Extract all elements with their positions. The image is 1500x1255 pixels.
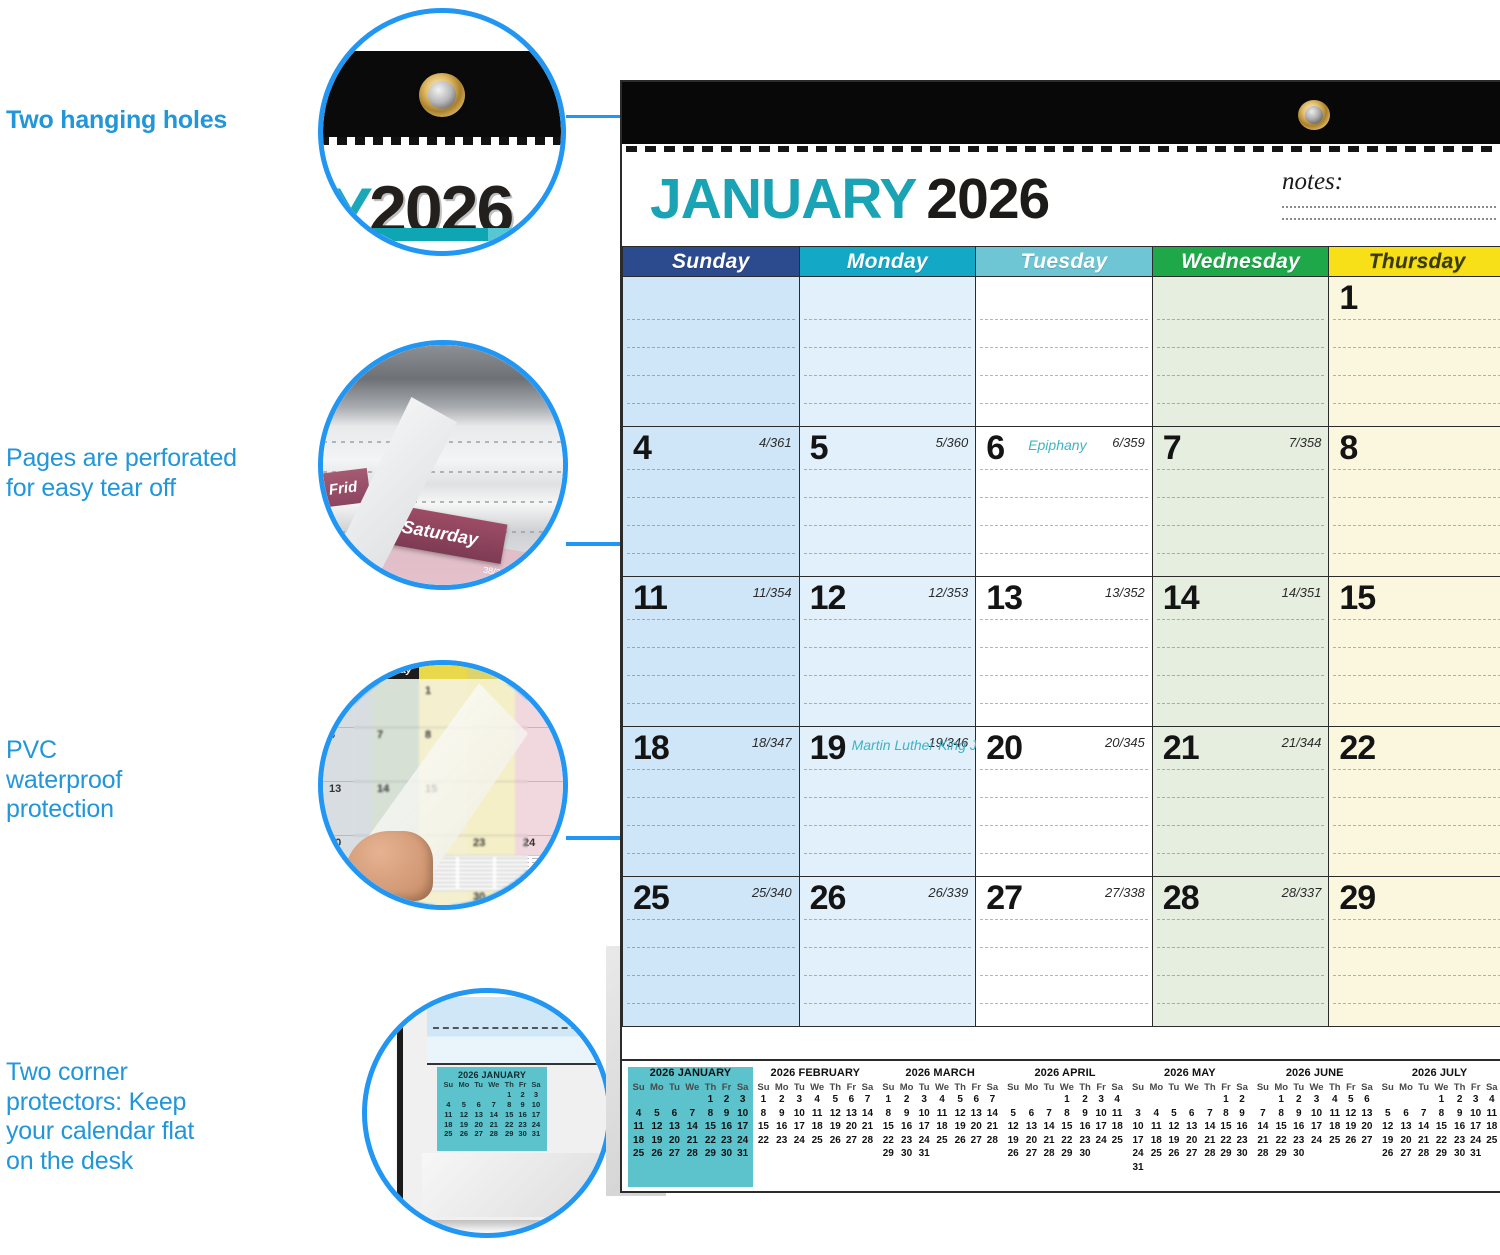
- mini-dow-header: Tu: [667, 1081, 683, 1094]
- mini-day-cell: 28: [1202, 1148, 1218, 1162]
- mini-day-cell: 17: [1093, 1121, 1109, 1135]
- day-number: 5: [810, 431, 828, 465]
- mini-day-cell: [630, 1094, 647, 1108]
- notes-area[interactable]: notes:: [1282, 168, 1496, 240]
- mini-day-cell: 1: [702, 1094, 718, 1108]
- mini-day-cell: 21: [1202, 1134, 1218, 1148]
- mini-day-cell: 2: [772, 1094, 791, 1108]
- mini-day-cell: 12: [1166, 1121, 1182, 1135]
- day-cell[interactable]: 2626/339: [799, 877, 976, 1027]
- day-number: 11: [633, 581, 667, 615]
- mini-dow-header: We: [1307, 1081, 1327, 1094]
- mini-day-cell: [827, 1148, 843, 1149]
- mini-day-cell: 16: [1291, 1121, 1307, 1135]
- day-cell[interactable]: 55/360: [799, 427, 976, 577]
- mini-day-cell: 17: [916, 1121, 932, 1135]
- corner-mini-day-cell: 8: [502, 1100, 516, 1110]
- mini-day-cell: [968, 1148, 984, 1162]
- page-title: JANUARY2026: [650, 166, 1049, 232]
- feature-label-perforated: Pages are perforated for easy tear off: [6, 444, 306, 503]
- mini-day-number: 7: [377, 729, 383, 741]
- perforation-dashes: [323, 137, 561, 145]
- mini-day-cell: 21: [1254, 1134, 1271, 1148]
- mini-day-cell: 28: [682, 1148, 702, 1162]
- mini-day-cell: 28: [859, 1134, 875, 1148]
- mini-day-number: 27: [329, 891, 341, 903]
- mini-day-cell: 11: [1109, 1107, 1125, 1121]
- mini-day-cell: 24: [1129, 1148, 1146, 1162]
- mini-day-cell: 6: [1359, 1094, 1375, 1108]
- day-cell[interactable]: 8: [1329, 427, 1500, 577]
- mini-day-cell: 4: [1109, 1094, 1125, 1108]
- mini-day-cell: 27: [1359, 1134, 1375, 1148]
- mini-week-row: [755, 1148, 876, 1149]
- mini-week-row: 21222324252627: [1254, 1134, 1375, 1148]
- mini-week-row: 78910111213: [1254, 1107, 1375, 1121]
- mini-day-cell: 19: [1379, 1134, 1396, 1148]
- mini-day-cell: [1041, 1094, 1057, 1108]
- day-number: 27: [986, 881, 1022, 915]
- day-number: 1: [1339, 281, 1357, 315]
- corner-protector-sleeve: [422, 1153, 607, 1217]
- day-cell[interactable]: 66/359Epiphany: [976, 427, 1153, 577]
- mini-day-cell: 15: [1271, 1121, 1290, 1135]
- corner-mini-dow: Fr: [516, 1080, 529, 1090]
- day-cell[interactable]: 2020/345: [976, 727, 1153, 877]
- mini-dow-header: Sa: [1359, 1081, 1375, 1094]
- corner-mini-day-cell: 6: [472, 1100, 485, 1110]
- mini-day-cell: [1359, 1148, 1375, 1162]
- mini-day-cell: 30: [1291, 1148, 1307, 1162]
- mini-dow-header: Mo: [897, 1081, 916, 1094]
- mini-day-cell: 11: [1327, 1107, 1343, 1121]
- mini-day-cell: 13: [1182, 1121, 1202, 1135]
- mini-day-cell: 30: [1077, 1148, 1093, 1162]
- mini-day-cell: 18: [807, 1121, 827, 1135]
- mini-calendar-title: 2026 FEBRUARY: [755, 1067, 876, 1079]
- mini-week-row: 567891011: [1379, 1107, 1500, 1121]
- mini-day-cell: 7: [859, 1094, 875, 1108]
- day-cell[interactable]: [976, 277, 1153, 427]
- mini-day-cell: 14: [1202, 1121, 1218, 1135]
- day-cell[interactable]: 1919/346Martin Luther King Jr. Day: [799, 727, 976, 877]
- mini-day-cell: 18: [1484, 1121, 1500, 1135]
- day-number: 4: [633, 431, 651, 465]
- mini-day-cell: 2: [1077, 1094, 1093, 1108]
- mini-day-number: 30: [473, 891, 485, 903]
- mini-day-cell: 26: [952, 1134, 968, 1148]
- grommet-icon: [1298, 100, 1330, 130]
- mini-day-cell: 1: [1218, 1094, 1234, 1108]
- perforation-line: [622, 144, 1500, 154]
- mini-day-cell: 16: [1077, 1121, 1093, 1135]
- mini-day-cell: 14: [1254, 1121, 1271, 1135]
- corner-mini-day-cell: 10: [529, 1100, 543, 1110]
- teal-weekday-bar: [373, 228, 561, 241]
- mini-day-cell: 16: [1234, 1121, 1250, 1135]
- mini-dow-header: Tu: [1166, 1081, 1182, 1094]
- mini-day-cell: 30: [1451, 1148, 1467, 1162]
- mini-day-cell: 19: [827, 1121, 843, 1135]
- mini-day-cell: 1: [755, 1094, 772, 1108]
- partial-month-letter: Y: [329, 173, 373, 237]
- mini-day-cell: [1202, 1094, 1218, 1108]
- mini-day-cell: 3: [1307, 1094, 1327, 1108]
- mini-day-cell: 6: [667, 1107, 683, 1121]
- mini-day-number: 23: [473, 837, 485, 849]
- day-cell[interactable]: 2121/344: [1152, 727, 1329, 877]
- mini-day-cell: 8: [1218, 1107, 1234, 1121]
- mini-calendar-title: 2026 MARCH: [880, 1067, 1001, 1079]
- mini-day-cell: [1218, 1161, 1234, 1175]
- mini-day-cell: 19: [952, 1121, 968, 1135]
- mini-day-cell: [984, 1148, 1000, 1162]
- day-cell[interactable]: 1212/353: [799, 577, 976, 727]
- mini-day-cell: [1484, 1148, 1500, 1162]
- mini-dow-header: Fr: [1343, 1081, 1359, 1094]
- day-number: 25: [633, 881, 669, 915]
- mini-day-cell: 14: [984, 1107, 1000, 1121]
- mini-calendar-title: 2026 MAY: [1129, 1067, 1250, 1079]
- day-of-year-fraction: 13/352: [1105, 585, 1145, 600]
- mini-week-row: 22232425262728: [755, 1134, 876, 1148]
- mini-day-cell: 3: [791, 1094, 807, 1108]
- mini-day-cell: 9: [1077, 1107, 1093, 1121]
- mini-week-row: 2627282930: [1005, 1148, 1126, 1162]
- mini-week-row: 3456789: [1129, 1107, 1250, 1121]
- mini-day-cell: 6: [1182, 1107, 1202, 1121]
- day-number: 15: [1339, 581, 1375, 615]
- mini-calendar[interactable]: 2026 JANUARYSuMoTuWeThFrSa12345678910111…: [628, 1067, 753, 1187]
- mini-calendar-title: 2026 APRIL: [1005, 1067, 1126, 1079]
- mini-day-cell: 2: [1451, 1094, 1467, 1108]
- corner-mini-day-cell: [456, 1090, 473, 1100]
- mini-day-cell: 18: [1327, 1121, 1343, 1135]
- mini-day-cell: 5: [1005, 1107, 1022, 1121]
- mini-day-cell: [807, 1148, 827, 1149]
- mini-day-number: 24: [523, 837, 535, 849]
- mini-day-cell: [1234, 1161, 1250, 1175]
- day-of-year-fraction: 6/359: [1112, 435, 1145, 450]
- mini-day-cell: 8: [1271, 1107, 1290, 1121]
- mini-day-cell: 3: [1468, 1094, 1484, 1108]
- corner-mini-day-cell: 4: [441, 1100, 456, 1110]
- mini-day-cell: 10: [734, 1107, 750, 1121]
- mini-day-cell: 27: [968, 1134, 984, 1148]
- mini-calendar[interactable]: 2026 MARCHSuMoTuWeThFrSa1234567891011121…: [878, 1067, 1003, 1187]
- mini-day-cell: 29: [1431, 1148, 1451, 1162]
- mini-week-row: 1234567: [755, 1094, 876, 1108]
- day-cell[interactable]: 1414/351: [1152, 577, 1329, 727]
- corner-mini-day-cell: 31: [529, 1129, 543, 1139]
- mini-day-cell: 1: [1431, 1094, 1451, 1108]
- mini-day-cell: 21: [1041, 1134, 1057, 1148]
- mini-day-cell: [859, 1148, 875, 1149]
- mini-day-cell: 19: [1166, 1134, 1182, 1148]
- mini-day-cell: 5: [1379, 1107, 1396, 1121]
- corner-mini-day-cell: 17: [529, 1109, 543, 1119]
- mini-dow-header: Fr: [1093, 1081, 1109, 1094]
- mini-day-cell: 31: [1468, 1148, 1484, 1162]
- week-row: 1: [623, 277, 1500, 427]
- mini-day-cell: 22: [1057, 1134, 1077, 1148]
- mini-day-cell: 23: [1077, 1134, 1093, 1148]
- mini-day-cell: 16: [719, 1121, 735, 1135]
- mini-day-cell: 15: [880, 1121, 897, 1135]
- mini-dow-header: We: [932, 1081, 952, 1094]
- corner-mini-day-cell: 2: [516, 1090, 529, 1100]
- mini-day-cell: 16: [897, 1121, 916, 1135]
- mini-day-cell: 15: [755, 1121, 772, 1135]
- corner-mini-day-cell: 14: [485, 1109, 502, 1119]
- day-number: 12: [810, 581, 846, 615]
- mini-calendar[interactable]: 2026 MAYSuMoTuWeThFrSa123456789101112131…: [1127, 1067, 1252, 1187]
- day-cell[interactable]: 1313/352: [976, 577, 1153, 727]
- corner-mini-day-cell: [441, 1090, 456, 1100]
- mini-dow-header: Sa: [859, 1081, 875, 1094]
- corner-mini-calendar: 2026 JANUARY SuMoTuWeThFrSa1234567891011…: [437, 1067, 547, 1151]
- day-cell[interactable]: 44/361: [623, 427, 800, 577]
- mini-day-cell: 25: [1109, 1134, 1125, 1148]
- feature-label-pvc-waterproof: PVC waterproof protection: [6, 736, 226, 825]
- mini-day-cell: [952, 1148, 968, 1162]
- mini-week-row: 123456: [1254, 1094, 1375, 1108]
- day-of-year-fraction: 28/337: [1282, 885, 1322, 900]
- day-of-year-fraction: 26/339: [928, 885, 968, 900]
- day-cell[interactable]: 15: [1329, 577, 1500, 727]
- day-of-year-fraction: 11/354: [753, 585, 792, 600]
- mini-dow-header: Sa: [984, 1081, 1000, 1094]
- corner-mini-day-cell: [485, 1090, 502, 1100]
- mini-day-cell: [1147, 1161, 1166, 1175]
- mini-day-cell: 4: [932, 1094, 952, 1108]
- mini-day-cell: 31: [1129, 1161, 1146, 1175]
- mini-day-cell: 6: [1396, 1107, 1415, 1121]
- mini-dow-header: Th: [952, 1081, 968, 1094]
- mini-day-cell: 15: [1057, 1121, 1077, 1135]
- mini-day-cell: [1416, 1094, 1432, 1108]
- mini-day-cell: 22: [1431, 1134, 1451, 1148]
- magnifier-hanging-hole: Y 2026: [318, 8, 566, 256]
- corner-mini-week-row: 18192021222324: [441, 1119, 543, 1129]
- day-of-year-fraction: 12/353: [928, 585, 968, 600]
- mini-dow-header: Th: [1327, 1081, 1343, 1094]
- ruled-lines: [976, 277, 1152, 426]
- mini-day-cell: 12: [1343, 1107, 1359, 1121]
- mini-day-cell: 3: [734, 1094, 750, 1108]
- day-cell[interactable]: 22: [1329, 727, 1500, 877]
- mini-dow-header: Th: [1451, 1081, 1467, 1094]
- mini-week-row: 31: [1129, 1161, 1250, 1175]
- corner-mini-calendar-table: SuMoTuWeThFrSa12345678910111213141516171…: [441, 1080, 543, 1139]
- mini-dow-header: Tu: [1041, 1081, 1057, 1094]
- mini-day-cell: 30: [1234, 1148, 1250, 1162]
- mini-day-cell: 11: [1484, 1107, 1500, 1121]
- mini-day-cell: 7: [984, 1094, 1000, 1108]
- mini-day-cell: 4: [1484, 1094, 1500, 1108]
- magnifier-pvc-protection: 1 6 7 8 13 14 15 20 21 23 24 27 30 31 dn…: [318, 660, 568, 910]
- mini-dow-header: Sa: [1234, 1081, 1250, 1094]
- corner-mini-dow: Tu: [472, 1080, 485, 1090]
- day-number: 22: [1339, 731, 1375, 765]
- mini-calendar[interactable]: 2026 APRILSuMoTuWeThFrSa1234567891011121…: [1003, 1067, 1128, 1187]
- mini-day-cell: 21: [984, 1121, 1000, 1135]
- mini-dow-header: Mo: [1147, 1081, 1166, 1094]
- mini-day-cell: 14: [1416, 1121, 1432, 1135]
- day-cell[interactable]: 2525/340: [623, 877, 800, 1027]
- day-number: 28: [1163, 881, 1199, 915]
- mini-day-cell: 17: [1307, 1121, 1327, 1135]
- mini-calendar-table: SuMoTuWeThFrSa12345678910111213141516171…: [630, 1081, 751, 1161]
- mini-day-cell: 29: [880, 1148, 897, 1162]
- mini-day-cell: 25: [1484, 1134, 1500, 1148]
- corner-mini-week-row: 123: [441, 1090, 543, 1100]
- day-cell[interactable]: 2828/337: [1152, 877, 1329, 1027]
- mini-calendar[interactable]: 2026 JULYSuMoTuWeThFrSa12345678910111213…: [1377, 1067, 1500, 1187]
- mini-week-row: 12: [1129, 1094, 1250, 1108]
- mini-dow-header: We: [1057, 1081, 1077, 1094]
- mini-day-cell: 10: [1129, 1121, 1146, 1135]
- mini-week-row: 262728293031: [1379, 1148, 1500, 1162]
- mini-day-cell: [1182, 1094, 1202, 1108]
- mini-day-cell: 6: [844, 1094, 860, 1108]
- pvc-weekday-header-label: dnesday: [371, 665, 412, 676]
- mini-day-cell: 28: [984, 1134, 1000, 1148]
- weekday-header-wednesday: Wednesday: [1152, 247, 1329, 277]
- ruled-lines: [623, 277, 799, 426]
- mini-day-cell: [1202, 1161, 1218, 1175]
- mini-day-cell: [1166, 1161, 1182, 1175]
- day-number: 21: [1163, 731, 1199, 765]
- mini-day-cell: [791, 1148, 807, 1149]
- day-cell[interactable]: 77/358: [1152, 427, 1329, 577]
- mini-day-cell: 24: [916, 1134, 932, 1148]
- mini-day-cell: 20: [667, 1134, 683, 1148]
- month-label: JANUARY: [650, 167, 916, 231]
- day-number: 29: [1339, 881, 1375, 915]
- mini-day-cell: 3: [1129, 1107, 1146, 1121]
- mini-day-cell: 21: [859, 1121, 875, 1135]
- mini-day-cell: 18: [630, 1134, 647, 1148]
- mini-day-cell: 27: [1182, 1148, 1202, 1162]
- mini-dow-header: Fr: [1218, 1081, 1234, 1094]
- mini-week-row: 282930: [1254, 1148, 1375, 1162]
- grommet-icon: [419, 73, 465, 117]
- mini-day-cell: 6: [1022, 1107, 1041, 1121]
- day-of-year-fraction: 14/351: [1282, 585, 1322, 600]
- mini-dow-header: Su: [880, 1081, 897, 1094]
- day-cell[interactable]: [623, 277, 800, 427]
- mini-day-cell: 20: [844, 1121, 860, 1135]
- mini-day-cell: [1254, 1094, 1271, 1108]
- day-number: 20: [986, 731, 1022, 765]
- mini-dow-header: Th: [1077, 1081, 1093, 1094]
- mini-day-cell: [682, 1094, 702, 1108]
- mini-day-cell: 23: [1291, 1134, 1307, 1148]
- mini-day-cell: 25: [1147, 1148, 1166, 1162]
- mini-day-cell: 9: [1234, 1107, 1250, 1121]
- mini-day-cell: 12: [647, 1121, 666, 1135]
- mini-day-cell: 20: [968, 1121, 984, 1135]
- mini-dow-header: Fr: [1468, 1081, 1484, 1094]
- mini-week-row: 15161718192021: [880, 1121, 1001, 1135]
- mini-day-cell: 10: [1468, 1107, 1484, 1121]
- mini-week-row: 123: [630, 1094, 751, 1108]
- mini-day-cell: 15: [1218, 1121, 1234, 1135]
- mini-calendar-table: SuMoTuWeThFrSa12345678910111213141516171…: [1129, 1081, 1250, 1175]
- mini-week-row: 22232425262728: [880, 1134, 1001, 1148]
- mini-day-cell: 16: [1451, 1121, 1467, 1135]
- mini-week-row: 891011121314: [880, 1107, 1001, 1121]
- mini-calendar[interactable]: 2026 FEBRUARYSuMoTuWeThFrSa1234567891011…: [753, 1067, 878, 1187]
- mini-dow-header: We: [682, 1081, 702, 1094]
- weekday-header-row: SundayMondayTuesdayWednesdayThursday: [623, 247, 1500, 277]
- calendar-bottom-edge: [427, 997, 607, 1065]
- mini-day-cell: 14: [859, 1107, 875, 1121]
- mini-day-cell: 12: [827, 1107, 843, 1121]
- day-cell[interactable]: [799, 277, 976, 427]
- mini-day-cell: 11: [807, 1107, 827, 1121]
- day-cell[interactable]: 29: [1329, 877, 1500, 1027]
- mini-day-cell: 11: [1147, 1121, 1166, 1135]
- mini-day-cell: 7: [1041, 1107, 1057, 1121]
- mini-day-cell: 24: [1093, 1134, 1109, 1148]
- mini-dow-header: Su: [755, 1081, 772, 1094]
- mini-calendar[interactable]: 2026 JUNESuMoTuWeThFrSa12345678910111213…: [1252, 1067, 1377, 1187]
- mini-dow-header: Fr: [844, 1081, 860, 1094]
- day-cell[interactable]: 1818/347: [623, 727, 800, 877]
- mini-week-row: 17181920212223: [1129, 1134, 1250, 1148]
- mini-day-cell: 20: [1022, 1134, 1041, 1148]
- mini-day-cell: 15: [1431, 1121, 1451, 1135]
- mini-day-cell: 7: [1254, 1107, 1271, 1121]
- day-cell[interactable]: 1111/354: [623, 577, 800, 727]
- mini-day-cell: 3: [1093, 1094, 1109, 1108]
- mini-day-cell: [1109, 1148, 1125, 1162]
- day-cell[interactable]: 2727/338: [976, 877, 1153, 1027]
- mini-day-cell: 29: [702, 1148, 718, 1162]
- corner-mini-day-cell: 12: [456, 1109, 473, 1119]
- corner-mini-week-row: 45678910: [441, 1100, 543, 1110]
- mini-day-cell: 25: [630, 1148, 647, 1162]
- ruled-lines: [1153, 277, 1329, 426]
- mini-day-cell: 22: [1271, 1134, 1290, 1148]
- corner-mini-day-cell: 11: [441, 1109, 456, 1119]
- mini-day-cell: 11: [630, 1121, 647, 1135]
- corner-mini-dow: We: [485, 1080, 502, 1090]
- week-row: 1818/3471919/346Martin Luther King Jr. D…: [623, 727, 1500, 877]
- day-of-year-fraction: 4/361: [759, 435, 792, 450]
- mini-day-cell: 9: [1451, 1107, 1467, 1121]
- mini-day-cell: 20: [1396, 1134, 1415, 1148]
- mini-day-cell: [1182, 1161, 1202, 1175]
- mini-calendar-table: SuMoTuWeThFrSa12345678910111213141516171…: [1005, 1081, 1126, 1161]
- mini-day-cell: 7: [1416, 1107, 1432, 1121]
- mini-week-row: 18192021222324: [630, 1134, 751, 1148]
- day-cell[interactable]: [1152, 277, 1329, 427]
- day-cell[interactable]: 1: [1329, 277, 1500, 427]
- mini-day-cell: 28: [1041, 1148, 1057, 1162]
- weekday-header-sunday: Sunday: [623, 247, 800, 277]
- mini-day-cell: 9: [772, 1107, 791, 1121]
- mini-dow-header: Mo: [772, 1081, 791, 1094]
- corner-mini-day-cell: 15: [502, 1109, 516, 1119]
- mini-dow-header: Fr: [719, 1081, 735, 1094]
- mini-dow-header: Sa: [1109, 1081, 1125, 1094]
- mini-dow-header: Mo: [1271, 1081, 1290, 1094]
- day-number: 14: [1163, 581, 1199, 615]
- mini-calendar-table: SuMoTuWeThFrSa12345678910111213141516171…: [1254, 1081, 1375, 1161]
